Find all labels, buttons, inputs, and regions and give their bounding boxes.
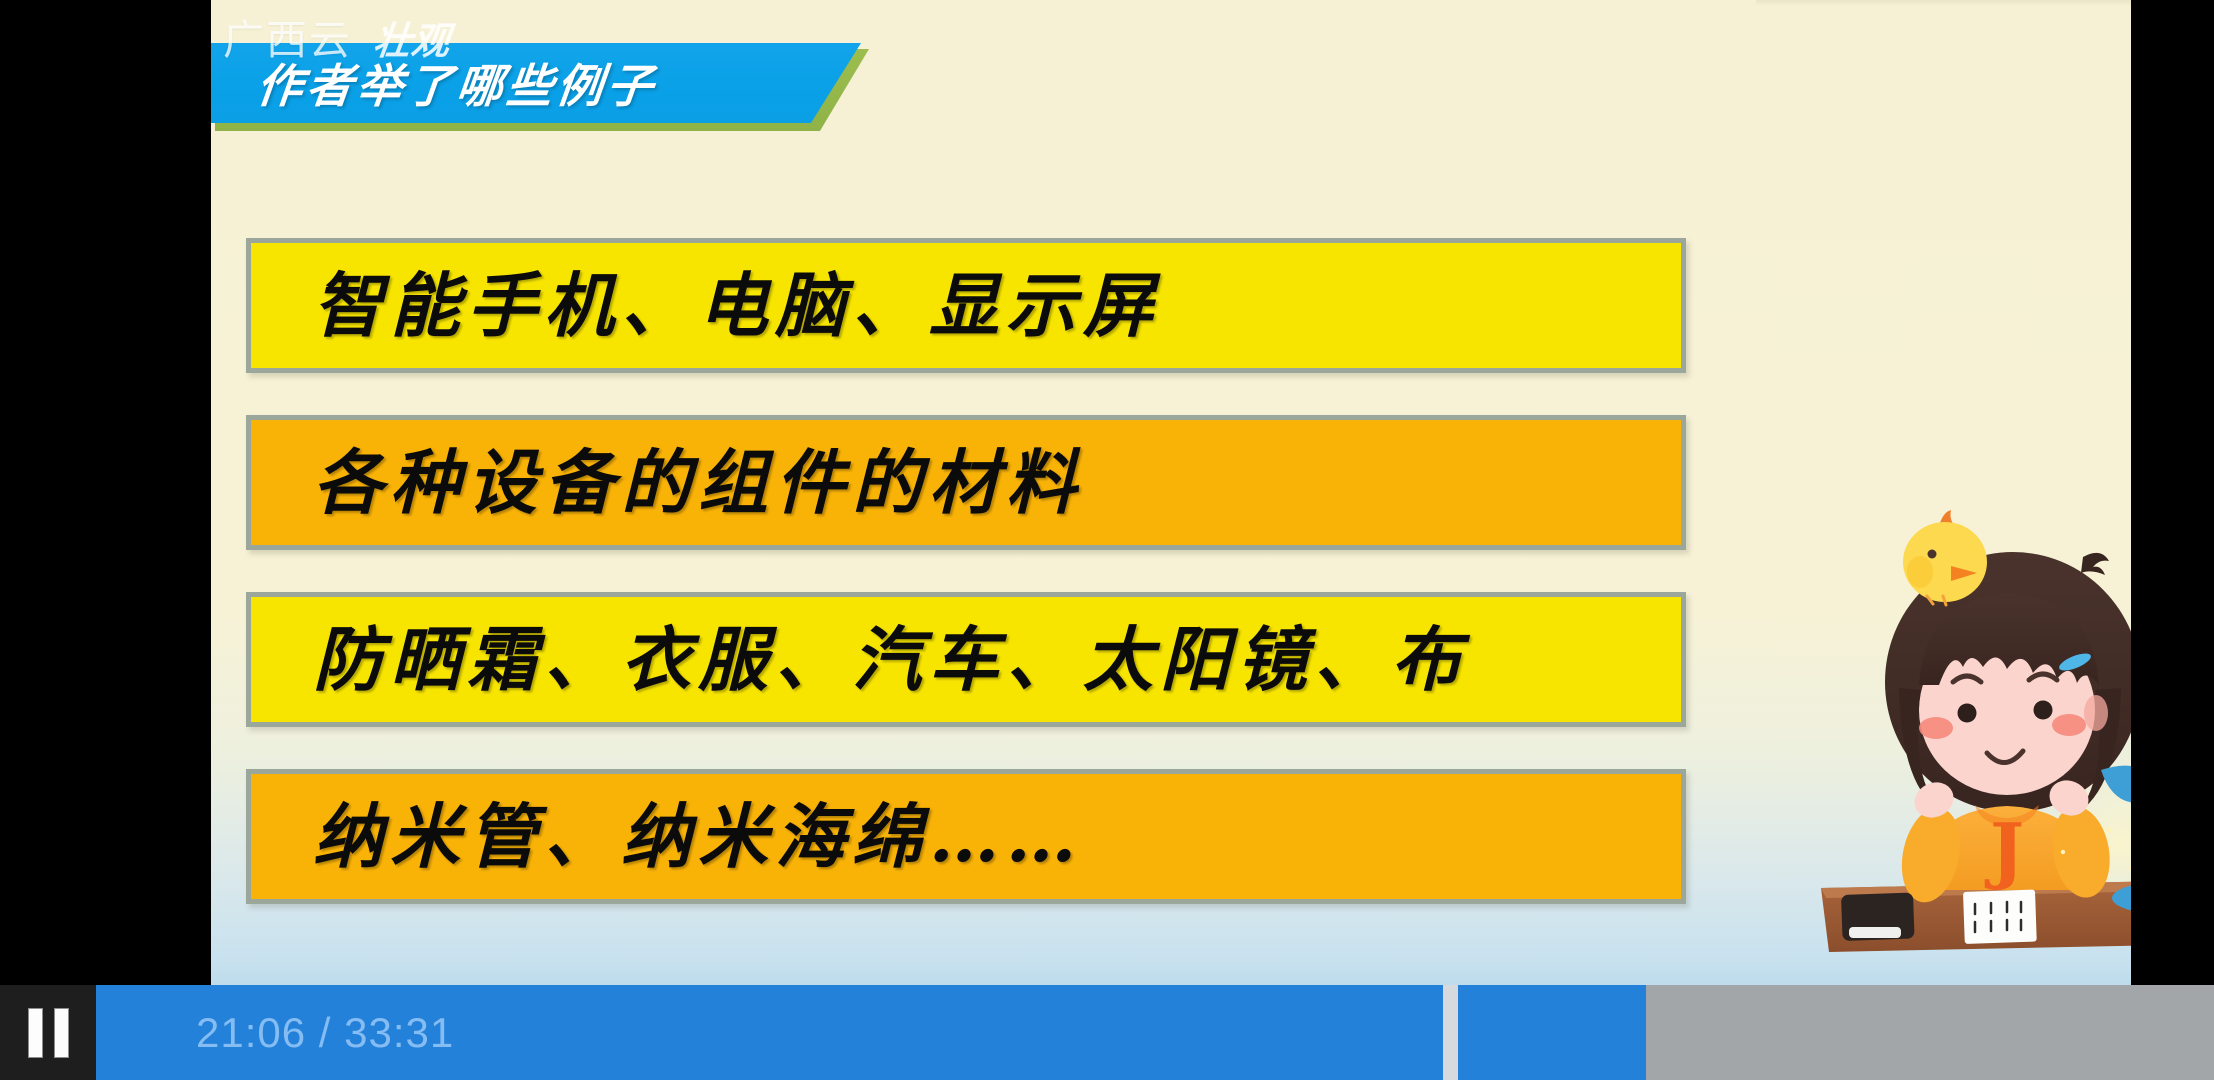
video-player-stage: 作者举了哪些例子 广西云 壮观 智能手机、电脑、显示屏 各种设备的组件的材料 防… — [0, 0, 2214, 1080]
progress-buffered-segment[interactable] — [1458, 985, 1646, 1080]
banner-title-text: 作者举了哪些例子 — [254, 50, 661, 116]
svg-text:J: J — [1984, 807, 2024, 892]
answer-row: 智能手机、电脑、显示屏 — [246, 238, 1686, 373]
answer-row: 防晒霜、衣服、汽车、太阳镜、布 — [246, 592, 1686, 727]
answer-list: 智能手机、电脑、显示屏 各种设备的组件的材料 防晒霜、衣服、汽车、太阳镜、布 纳… — [246, 238, 1686, 904]
answer-text: 纳米管、纳米海绵…… — [313, 802, 1083, 872]
progress-chapter-gap — [1443, 985, 1458, 1080]
slide-canvas: 作者举了哪些例子 广西云 壮观 智能手机、电脑、显示屏 各种设备的组件的材料 防… — [211, 0, 2131, 985]
answer-text: 防晒霜、衣服、汽车、太阳镜、布 — [313, 625, 1468, 695]
title-banner: 作者举了哪些例子 — [211, 43, 871, 127]
progress-bar[interactable]: 21:06 / 33:31 — [96, 985, 2214, 1080]
progress-played-segment[interactable] — [96, 985, 1443, 1080]
answer-text: 各种设备的组件的材料 — [313, 448, 1083, 518]
pause-icon — [28, 1008, 69, 1058]
girl-studying-illustration: J — [1801, 500, 2131, 970]
answer-row: 纳米管、纳米海绵…… — [246, 769, 1686, 904]
banner-body: 作者举了哪些例子 — [211, 43, 861, 123]
letterbox-left — [0, 0, 211, 985]
answer-text: 智能手机、电脑、显示屏 — [313, 271, 1160, 341]
play-pause-button[interactable] — [0, 985, 96, 1080]
answer-row: 各种设备的组件的材料 — [246, 415, 1686, 550]
progress-remaining-segment[interactable] — [1646, 985, 2214, 1080]
player-control-bar: 21:06 / 33:31 — [0, 985, 2214, 1080]
letterbox-right — [2131, 0, 2214, 1080]
overlay-shadow — [1756, 0, 2131, 6]
chick — [1903, 510, 1987, 605]
